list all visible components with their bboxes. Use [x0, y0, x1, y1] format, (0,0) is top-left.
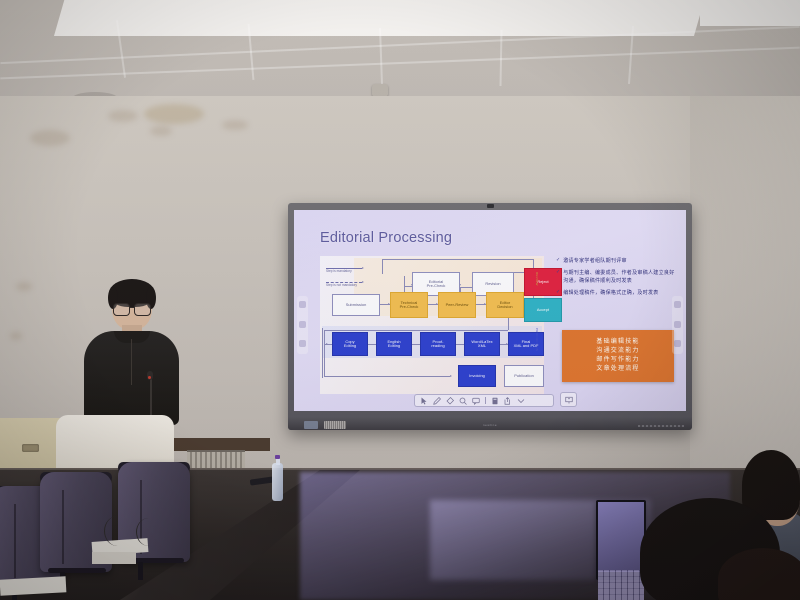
chair-seam — [14, 504, 16, 578]
flow-node-copy-editing[interactable]: Copy Editing — [332, 332, 368, 356]
highlight-line: 沟通交流能力 — [596, 347, 639, 356]
flow-node-label: Submission — [346, 303, 367, 307]
side-wall — [690, 96, 800, 496]
water-bottle — [272, 455, 283, 501]
flow-node-publication[interactable]: Publication — [504, 365, 544, 387]
bottle-cap — [275, 455, 280, 459]
export-icon[interactable] — [504, 397, 512, 405]
flow-node-technical-pre-check[interactable]: Technical Pre-Check — [390, 292, 428, 318]
flow-node-label: Peer-Review — [446, 303, 469, 307]
flow-node-label: Proof- reading — [431, 340, 444, 349]
display-camera-icon — [487, 204, 494, 208]
conference-room-screenshot: Editorial Processing Step is mandatory S… — [0, 0, 800, 600]
present-icon[interactable] — [565, 396, 573, 404]
home-icon[interactable] — [674, 301, 681, 308]
flow-node-submission[interactable]: Submission — [332, 294, 380, 316]
display-bezel-bottom: newline — [288, 417, 692, 430]
display-brand-label: newline — [483, 423, 497, 427]
swimlane-label-production: PRODUCTION — [535, 328, 539, 351]
chair-arm — [48, 568, 106, 573]
monitor-screen — [598, 502, 644, 572]
interactive-display[interactable]: Editorial Processing Step is mandatory S… — [288, 203, 692, 430]
cable — [104, 516, 131, 546]
flow-node-english-editing[interactable]: English Editing — [376, 332, 412, 356]
podium-plaque — [22, 444, 39, 452]
chair-leg — [138, 562, 143, 580]
check-icon: ✓ — [556, 290, 560, 297]
bottle-neck — [276, 458, 280, 465]
flow-node-word-latex-xml[interactable]: Word/LaTex XML — [464, 332, 500, 356]
bottle-body — [272, 463, 283, 501]
chevron-down-icon[interactable] — [517, 397, 525, 405]
eraser-icon[interactable] — [446, 397, 454, 405]
list-item: ✓ 与期刊主编、编委成员、作者及审稿人建立良好沟通，确保稿件顺利及时发表 — [556, 270, 678, 285]
flow-node-label: Technical Pre-Check — [400, 301, 419, 310]
back-icon[interactable] — [299, 340, 306, 347]
glasses-bridge — [129, 307, 135, 308]
check-icon: ✓ — [556, 270, 560, 285]
left-side-panel[interactable] — [297, 296, 308, 354]
bullet-list: ✓ 邀请专家学者组队期刊评审 ✓ 与期刊主编、编委成员、作者及审稿人建立良好沟通… — [556, 258, 678, 302]
highlight-box: 基础编辑技能 沟通交流能力 邮件写作能力 文章处理流程 — [562, 330, 674, 382]
glasses-lens-left — [113, 303, 130, 316]
pen-icon[interactable] — [433, 397, 441, 405]
flow-node-label: Editor Decision — [497, 301, 512, 310]
flow-node-peer-review[interactable]: Peer-Review — [438, 292, 476, 318]
display-screen[interactable]: Editorial Processing Step is mandatory S… — [294, 210, 686, 411]
office-chair — [40, 472, 112, 590]
present-button[interactable] — [560, 392, 577, 407]
ceiling — [0, 0, 800, 110]
paper-sheet — [92, 552, 136, 564]
keyboard — [598, 570, 644, 600]
flow-node-label: Copy Editing — [344, 340, 356, 349]
swimlane-label-review: REVIEW — [535, 272, 539, 286]
toolbar-divider — [485, 397, 486, 404]
annotation-toolbar[interactable] — [414, 394, 554, 407]
highlight-line: 基础编辑技能 — [596, 338, 639, 347]
bullet-text: 编辑处理稿件，确保格式正确，及时发表 — [563, 290, 658, 297]
display-label — [324, 421, 346, 429]
flow-node-label: English Editing — [387, 340, 400, 349]
magnifier-icon[interactable] — [459, 397, 467, 405]
whiteboard-icon[interactable] — [491, 397, 499, 405]
annotate-icon[interactable] — [472, 397, 480, 405]
presenter — [84, 283, 179, 423]
flow-node-editor-decision[interactable]: Editor Decision — [486, 292, 524, 318]
display-speaker-grille — [638, 425, 684, 427]
glasses-lens-right — [134, 303, 151, 316]
flow-node-label: Accept — [537, 308, 549, 312]
presenter-zipper — [131, 339, 132, 385]
display-power-led — [304, 421, 318, 429]
highlight-line: 邮件写作能力 — [596, 356, 639, 365]
highlight-line: 文章处理流程 — [596, 365, 639, 374]
bullet-text: 与期刊主编、编委成员、作者及审稿人建立良好沟通，确保稿件顺利及时发表 — [563, 270, 678, 285]
home-icon[interactable] — [299, 301, 306, 308]
monitor — [596, 500, 646, 580]
chair-seam — [62, 490, 64, 564]
legend-mandatory-label: Step is mandatory — [326, 269, 352, 273]
flow-node-invoicing[interactable]: Invoicing — [458, 365, 496, 387]
microphone-led — [148, 376, 151, 379]
slide-title: Editorial Processing — [320, 230, 452, 246]
right-side-panel[interactable] — [672, 296, 683, 354]
flow-node-label: Revision — [485, 282, 500, 286]
cable — [136, 518, 161, 546]
menu-icon[interactable] — [674, 321, 681, 328]
flow-node-label: Invoicing — [469, 374, 485, 378]
flow-node-label: Editorial Pre-Check — [427, 280, 446, 289]
flow-node-label: Reject — [537, 280, 548, 284]
flow-node-label: Publication — [514, 374, 534, 378]
back-icon[interactable] — [674, 340, 681, 347]
list-item: ✓ 编辑处理稿件，确保格式正确，及时发表 — [556, 290, 678, 297]
list-item: ✓ 邀请专家学者组队期刊评审 — [556, 258, 678, 265]
presentation-slide: Editorial Processing Step is mandatory S… — [294, 210, 686, 411]
bullet-text: 邀请专家学者组队期刊评审 — [563, 258, 627, 265]
legend-not-mandatory-label: Step is not mandatory — [326, 283, 357, 287]
menu-icon[interactable] — [299, 321, 306, 328]
flow-node-label: Word/LaTex XML — [471, 340, 492, 349]
check-icon: ✓ — [556, 258, 560, 265]
flow-node-proof-reading[interactable]: Proof- reading — [420, 332, 456, 356]
cursor-icon[interactable] — [420, 397, 428, 405]
